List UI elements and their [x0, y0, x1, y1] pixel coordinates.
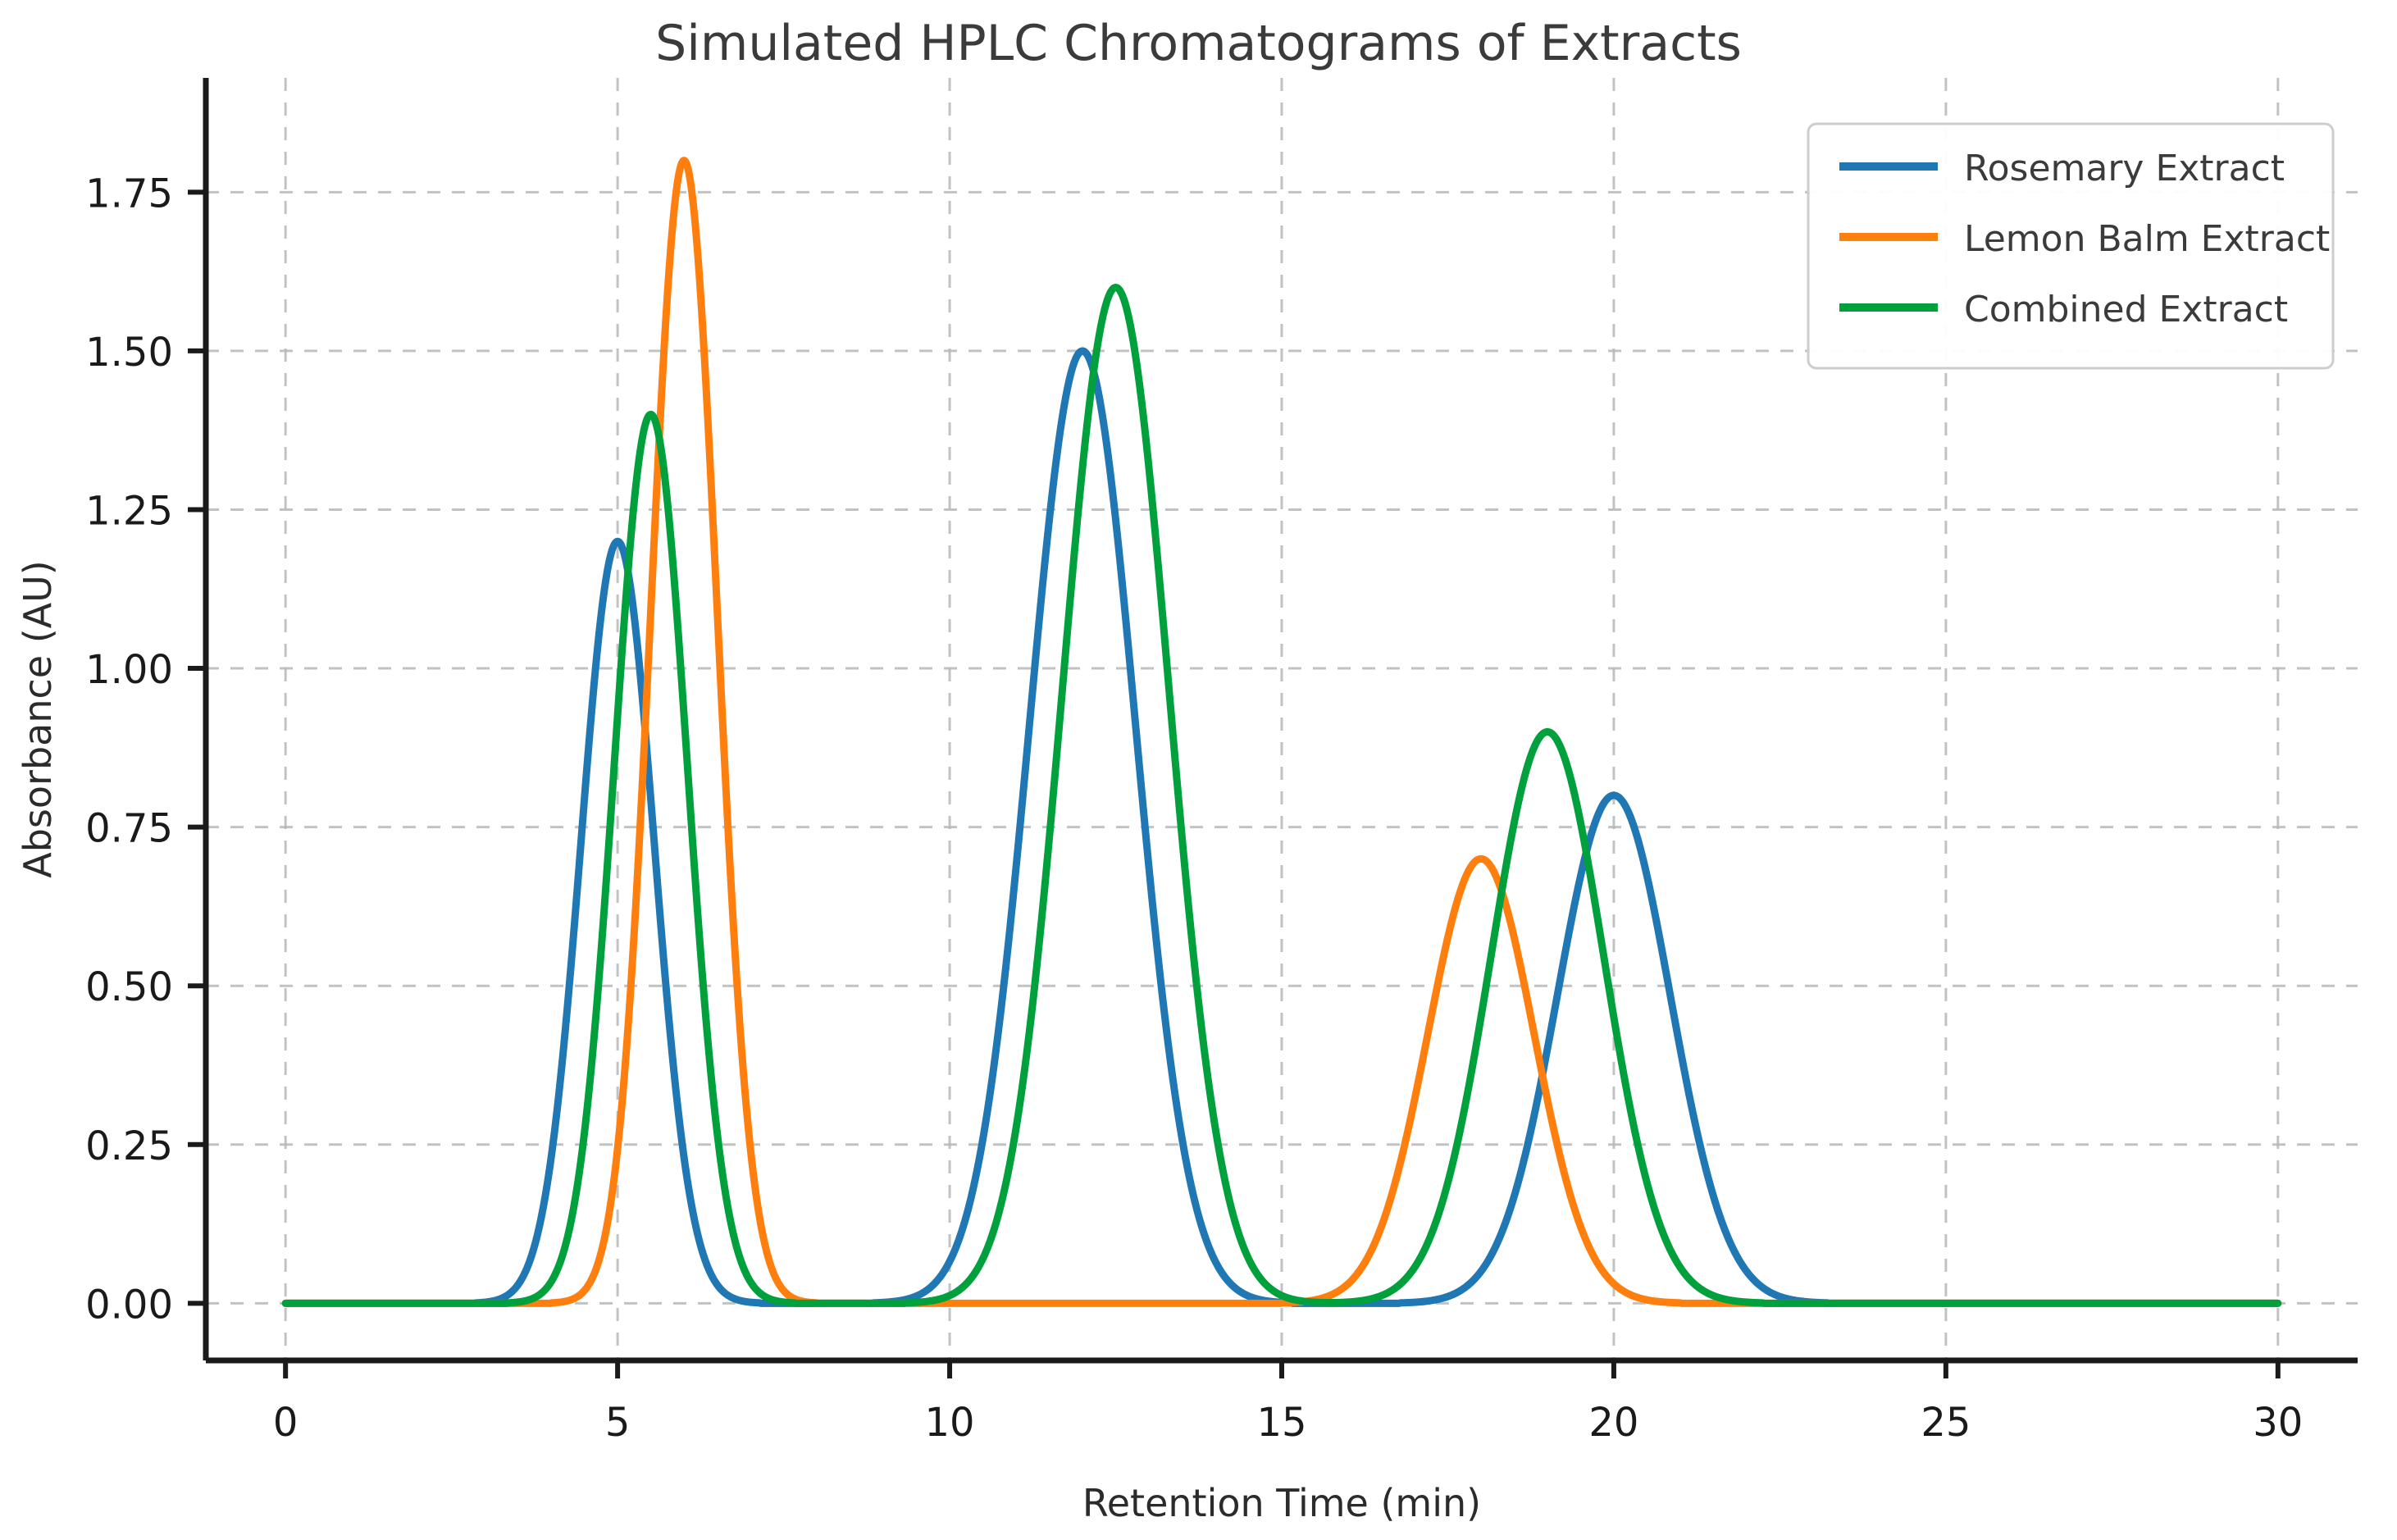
y-tick-label: 0.50: [85, 964, 173, 1010]
y-tick-label: 1.50: [85, 330, 173, 376]
chart-plot-area: 051015202530 0.000.250.500.751.001.251.5…: [0, 0, 2397, 1540]
x-tick-label: 20: [1588, 1400, 1638, 1446]
legend-label-combined-extract[interactable]: Combined Extract: [1964, 289, 2288, 330]
y-tick-label: 0.00: [85, 1282, 173, 1328]
y-tick-label: 0.25: [85, 1123, 173, 1169]
y-axis-label: Absorbance (AU): [16, 560, 60, 877]
legend-label-lemon-balm-extract[interactable]: Lemon Balm Extract: [1964, 218, 2330, 260]
y-tick-label: 0.75: [85, 806, 173, 852]
x-tick-label: 10: [925, 1400, 975, 1446]
chart-legend[interactable]: Rosemary ExtractLemon Balm ExtractCombin…: [1808, 124, 2333, 368]
legend-label-rosemary-extract[interactable]: Rosemary Extract: [1964, 148, 2285, 189]
x-axis-label: Retention Time (min): [1082, 1481, 1481, 1525]
y-tick-label: 1.00: [85, 647, 173, 693]
y-tick-label: 1.25: [85, 488, 173, 534]
chart-figure: Simulated HPLC Chromatograms of Extracts…: [0, 0, 2397, 1540]
x-tick-labels: 051015202530: [273, 1400, 2303, 1446]
y-tick-labels: 0.000.250.500.751.001.251.501.75: [85, 171, 173, 1328]
x-tick-label: 5: [605, 1400, 631, 1446]
x-tick-label: 0: [273, 1400, 298, 1446]
y-tick-label: 1.75: [85, 171, 173, 216]
x-tick-label: 25: [1921, 1400, 1971, 1446]
x-tick-label: 15: [1256, 1400, 1306, 1446]
x-tick-label: 30: [2253, 1400, 2303, 1446]
